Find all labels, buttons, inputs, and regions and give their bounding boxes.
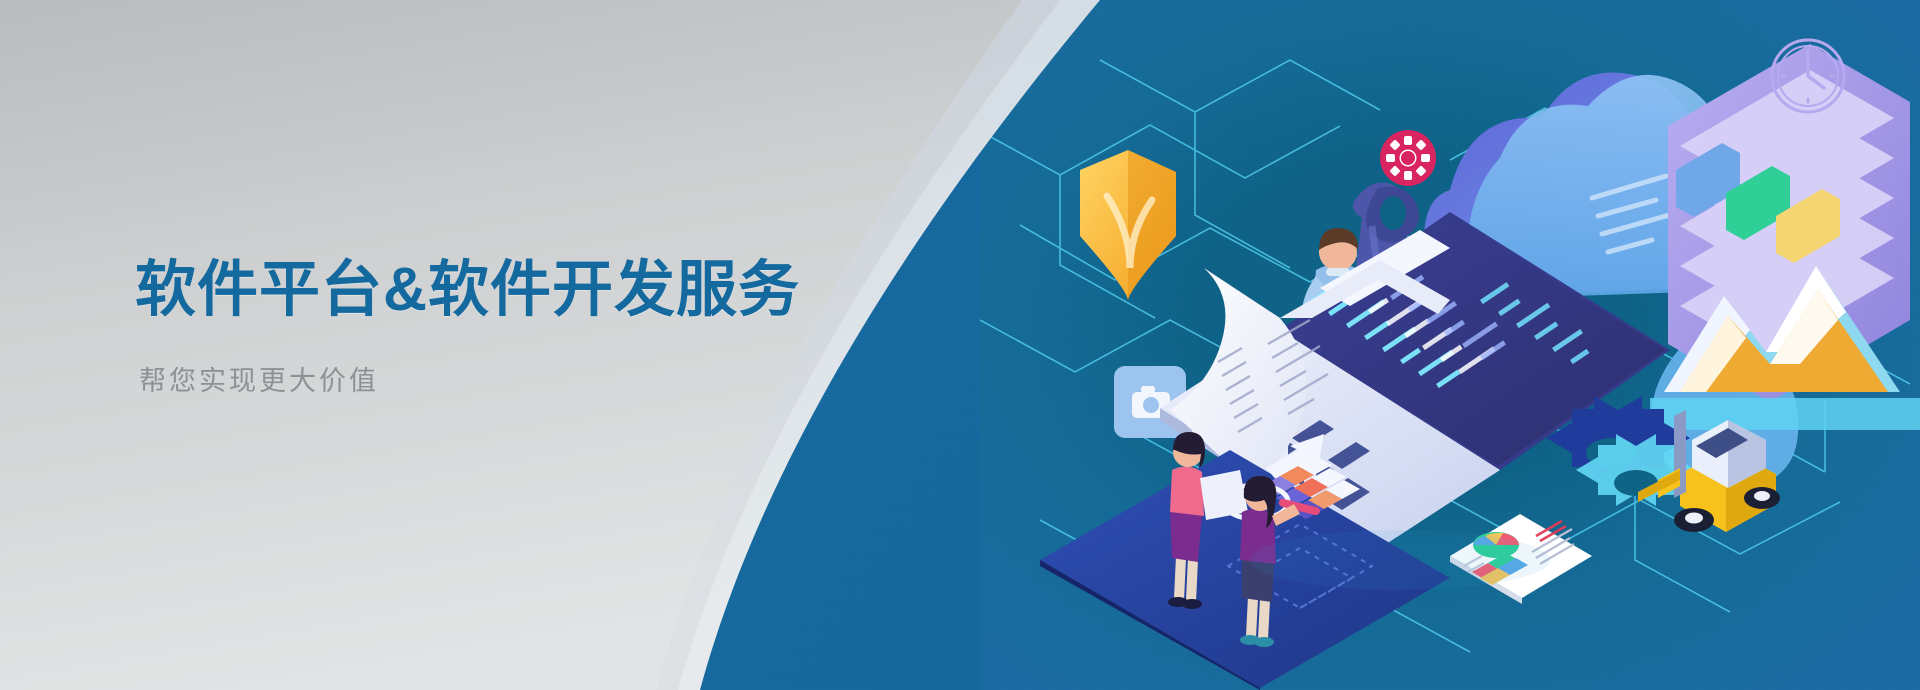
page-subtitle: 帮您实现更大价值 [139,359,895,398]
gear-badge-icon [1380,130,1436,186]
hero-banner: 软件平台&软件开发服务 帮您实现更大价值 [0,0,1920,690]
hero-copy: 软件平台&软件开发服务 帮您实现更大价值 [135,255,895,398]
clock-icon [1772,40,1844,112]
page-title: 软件平台&软件开发服务 [135,255,895,323]
